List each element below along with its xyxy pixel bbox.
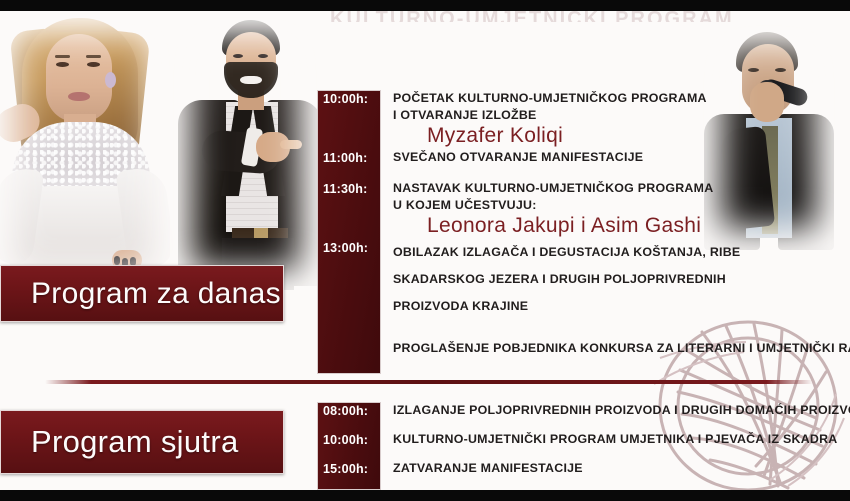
earring-shape — [105, 72, 116, 88]
schedule-line: I OTVARANJE IZLOŽBE — [393, 107, 707, 124]
eye-right-shape — [87, 62, 100, 67]
eye-right-shape — [258, 54, 268, 58]
schedule-row: 13:00h: OBILAZAK IZLAGAČA I DEGUSTACIJA … — [317, 239, 837, 320]
schedule-time: 08:00h: — [317, 402, 379, 418]
schedule-line: PROIZVODA KRAJINE — [393, 293, 740, 320]
schedule-today: 10:00h: POČETAK KULTURNO-UMJETNIČKOG PRO… — [317, 90, 837, 357]
schedule-description: POČETAK KULTURNO-UMJETNIČKOG PROGRAMA I … — [379, 90, 707, 149]
banner-program-tomorrow: Program sjutra — [0, 410, 284, 474]
schedule-line: IZLAGANJE POLJOPRIVREDNIH PROIZVODA I DR… — [393, 402, 850, 419]
schedule-time: 11:30h: — [317, 180, 379, 196]
schedule-line: U KOJEM UČESTVUJU: — [393, 197, 713, 214]
event-poster: KULTURNO-UMJETNIČKI PROGRAM — [0, 0, 850, 501]
schedule-row: 08:00h: IZLAGANJE POLJOPRIVREDNIH PROIZV… — [317, 402, 837, 419]
schedule-row: 11:00h: SVEČANO OTVARANJE MANIFESTACIJE — [317, 149, 837, 166]
schedule-row: 10:00h: KULTURNO-UMJETNIČKI PROGRAM UMJE… — [317, 431, 837, 448]
schedule-row: PROGLAŠENJE POBJEDNIKA KONKURSA ZA LITER… — [317, 340, 837, 357]
schedule-description: SVEČANO OTVARANJE MANIFESTACIJE — [379, 149, 643, 166]
schedule-spacer — [317, 166, 837, 180]
schedule-row: 11:30h: NASTAVAK KULTURNO-UMJETNIČKOG PR… — [317, 180, 837, 239]
schedule-description: PROGLAŠENJE POBJEDNIKA KONKURSA ZA LITER… — [379, 340, 850, 357]
schedule-guest-name: Leonora Jakupi i Asim Gashi — [393, 214, 713, 239]
schedule-time: 15:00h: — [317, 460, 379, 476]
schedule-time — [317, 340, 379, 342]
mouth-shape — [240, 76, 262, 84]
schedule-time: 13:00h: — [317, 239, 379, 255]
schedule-line: NASTAVAK KULTURNO-UMJETNIČKOG PROGRAMA — [393, 180, 713, 197]
schedule-row: 15:00h: ZATVARANJE MANIFESTACIJE — [317, 460, 837, 477]
schedule-time: 10:00h: — [317, 90, 379, 106]
schedule-description: NASTAVAK KULTURNO-UMJETNIČKOG PROGRAMA U… — [379, 180, 713, 239]
eye-left-shape — [748, 68, 759, 72]
schedule-description: IZLAGANJE POLJOPRIVREDNIH PROIZVODA I DR… — [379, 402, 850, 419]
schedule-row: 10:00h: POČETAK KULTURNO-UMJETNIČKOG PRO… — [317, 90, 837, 149]
schedule-time: 11:00h: — [317, 149, 379, 165]
schedule-description: KULTURNO-UMJETNIČKI PROGRAM UMJETNIKA I … — [379, 431, 837, 448]
female-singer-photo — [0, 10, 174, 290]
nail-shape — [114, 256, 120, 265]
section-divider — [45, 380, 813, 384]
pointing-finger-shape — [280, 140, 302, 149]
banner-today-label: Program za danas — [1, 277, 281, 311]
eyebrow-right-shape — [86, 55, 101, 58]
banner-program-today: Program za danas — [0, 265, 284, 322]
schedule-line: SVEČANO OTVARANJE MANIFESTACIJE — [393, 149, 643, 166]
eyebrow-left-shape — [55, 55, 70, 58]
letterbox-bottom — [0, 490, 850, 501]
schedule-line: PROGLAŠENJE POBJEDNIKA KONKURSA ZA LITER… — [393, 340, 850, 357]
schedule-line: ZATVARANJE MANIFESTACIJE — [393, 460, 583, 477]
eye-left-shape — [233, 54, 243, 58]
schedule-description: OBILAZAK IZLAGAČA I DEGUSTACIJA KOŠTANJA… — [379, 239, 740, 320]
letterbox-top — [0, 0, 850, 11]
face-shape — [46, 34, 112, 122]
schedule-guest-name: Myzafer Koliqi — [393, 124, 707, 149]
schedule-line: SKADARSKOG JEZERA I DRUGIH POLJOPRIVREDN… — [393, 266, 740, 293]
eye-left-shape — [56, 62, 69, 67]
schedule-line: POČETAK KULTURNO-UMJETNIČKOG PROGRAMA — [393, 90, 707, 107]
schedule-time: 10:00h: — [317, 431, 379, 447]
eye-right-shape — [775, 68, 786, 72]
banner-tomorrow-label: Program sjutra — [1, 424, 239, 460]
lips-shape — [68, 92, 90, 101]
schedule-description: ZATVARANJE MANIFESTACIJE — [379, 460, 583, 477]
schedule-line: KULTURNO-UMJETNIČKI PROGRAM UMJETNIKA I … — [393, 431, 837, 448]
schedule-tomorrow: 08:00h: IZLAGANJE POLJOPRIVREDNIH PROIZV… — [317, 402, 837, 477]
male-singer-photo — [170, 14, 320, 290]
schedule-line: OBILAZAK IZLAGAČA I DEGUSTACIJA KOŠTANJA… — [393, 239, 740, 266]
